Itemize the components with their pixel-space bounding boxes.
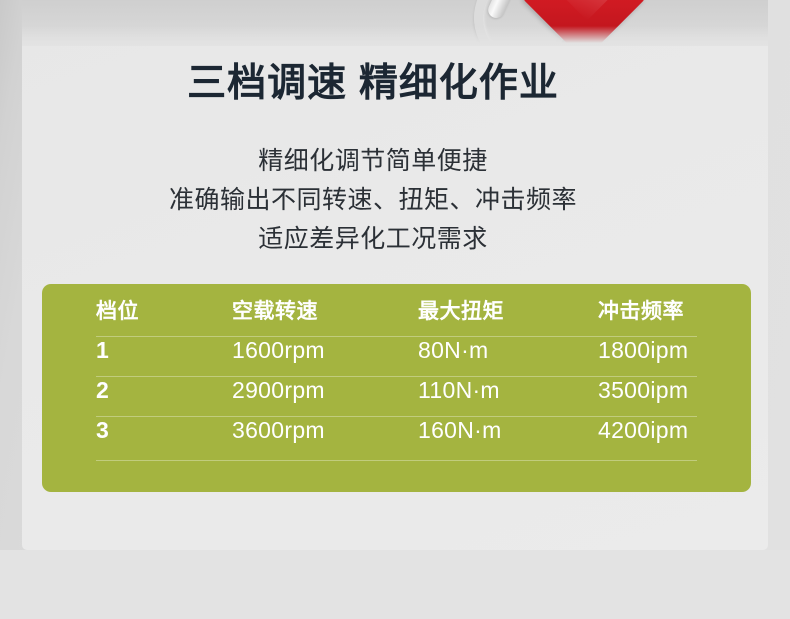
subtitle-line-1: 精细化调节简单便捷 xyxy=(0,141,746,177)
column-header-max-torque: 最大扭矩 xyxy=(418,295,504,325)
table-row: 2 2900rpm 110N·m 3500ipm xyxy=(42,370,751,410)
cell-impact-rate: 4200ipm xyxy=(598,417,688,444)
page-title: 三档调速 精细化作业 xyxy=(0,62,746,107)
cell-impact-rate: 1800ipm xyxy=(598,337,688,364)
subtitle-line-3: 适应差异化工况需求 xyxy=(0,219,746,255)
table-header-row: 档位 空载转速 最大扭矩 冲击频率 xyxy=(42,290,751,330)
subtitle-line-2: 准确输出不同转速、扭矩、冲击频率 xyxy=(0,180,746,216)
page-stage: 三档调速 精细化作业 精细化调节简单便捷 准确输出不同转速、扭矩、冲击频率 适应… xyxy=(0,0,790,619)
cell-max-torque: 80N·m xyxy=(418,337,489,364)
cell-gear: 2 xyxy=(96,377,109,404)
spec-table: 档位 空载转速 最大扭矩 冲击频率 1 1600rpm 80N·m 1800ip… xyxy=(42,284,751,492)
column-header-impact-rate: 冲击频率 xyxy=(598,295,684,325)
cell-gear: 1 xyxy=(96,337,109,364)
table-row: 3 3600rpm 160N·m 4200ipm xyxy=(42,410,751,450)
table-divider xyxy=(96,460,697,461)
table-row: 1 1600rpm 80N·m 1800ipm xyxy=(42,330,751,370)
cell-max-torque: 110N·m xyxy=(418,377,500,404)
column-header-gear: 档位 xyxy=(96,295,139,325)
product-photo-fade xyxy=(22,26,768,46)
cell-no-load-speed: 2900rpm xyxy=(232,377,325,404)
cell-max-torque: 160N·m xyxy=(418,417,502,444)
cell-impact-rate: 3500ipm xyxy=(598,377,688,404)
cell-gear: 3 xyxy=(96,417,109,444)
cell-no-load-speed: 1600rpm xyxy=(232,337,325,364)
column-header-no-load-speed: 空载转速 xyxy=(232,295,318,325)
product-photo-strip xyxy=(22,0,768,46)
cell-no-load-speed: 3600rpm xyxy=(232,417,325,444)
page-bottom-area xyxy=(0,550,790,619)
